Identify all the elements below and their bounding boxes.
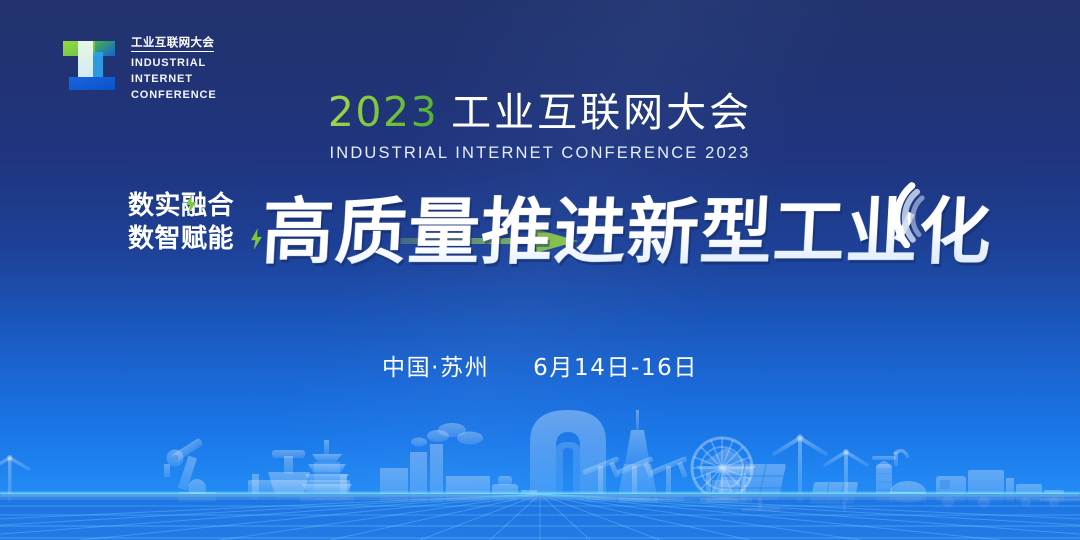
- slogan-block: 数实融合 数智赋能 高质量推: [0, 180, 1080, 285]
- logo-en-line-1: INDUSTRIAL: [131, 56, 217, 72]
- wifi-signal-icon: [884, 172, 960, 248]
- slogan-left-line-1: 数实融合: [128, 190, 268, 223]
- dateline: 中国·苏州 6月14日-16日: [0, 348, 1080, 382]
- headline-block: 2023 工业互联网大会 INDUSTRIAL INTERNET CONFERE…: [0, 92, 1080, 162]
- headline-subtitle-en: INDUSTRIAL INTERNET CONFERENCE 2023: [0, 145, 1080, 162]
- dateline-location: 中国·苏州: [382, 355, 489, 381]
- gate-of-the-orient-icon: [530, 410, 606, 502]
- dateline-dates: 6月14日-16日: [533, 355, 698, 381]
- logo-en-line-2: INTERNET: [131, 72, 217, 88]
- industrial-internet-conference-logo-icon: [56, 30, 122, 96]
- lightning-bolt-icon: [185, 194, 197, 214]
- conference-banner: 工业互联网大会 INDUSTRIAL INTERNET CONFERENCE 2…: [0, 0, 1080, 540]
- slogan-left-line-2: 数智赋能: [128, 223, 268, 256]
- perspective-grid-lines: [0, 494, 1080, 540]
- logo-chinese-name: 工业互联网大会: [131, 35, 214, 52]
- slogan-secondary: 数实融合 数智赋能: [128, 190, 268, 257]
- tv-tower-icon: [617, 410, 658, 503]
- city-industry-skyline: [0, 380, 1080, 540]
- headline-year: 2023: [328, 92, 438, 133]
- headline-title-cn: 工业互联网大会: [451, 93, 752, 133]
- perspective-grid: [0, 494, 1080, 540]
